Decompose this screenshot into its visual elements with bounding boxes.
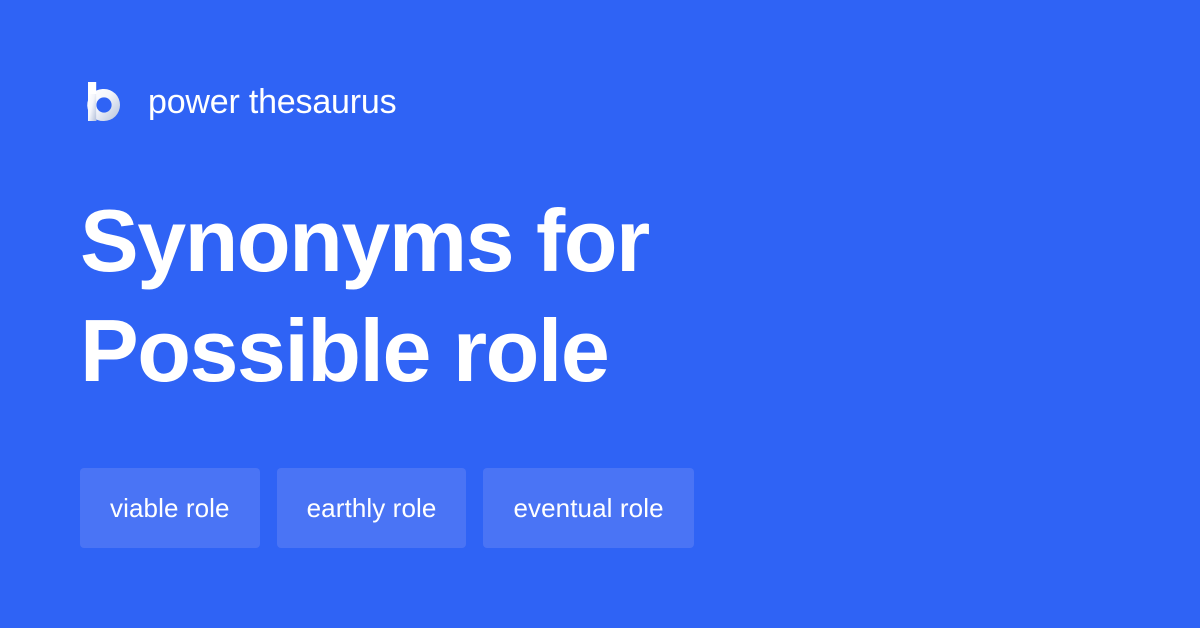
synonym-chip[interactable]: eventual role: [483, 468, 693, 548]
power-thesaurus-b-logo-icon: [80, 80, 124, 124]
synonym-chip[interactable]: viable role: [80, 468, 260, 548]
og-share-card: power thesaurus Synonyms for Possible ro…: [0, 0, 1200, 628]
synonym-chip[interactable]: earthly role: [277, 468, 467, 548]
page-title: Synonyms for Possible role: [80, 186, 1020, 406]
brand-header[interactable]: power thesaurus: [80, 78, 396, 126]
synonym-chip-list: viable role earthly role eventual role: [80, 468, 694, 548]
brand-name-label: power thesaurus: [148, 85, 396, 119]
